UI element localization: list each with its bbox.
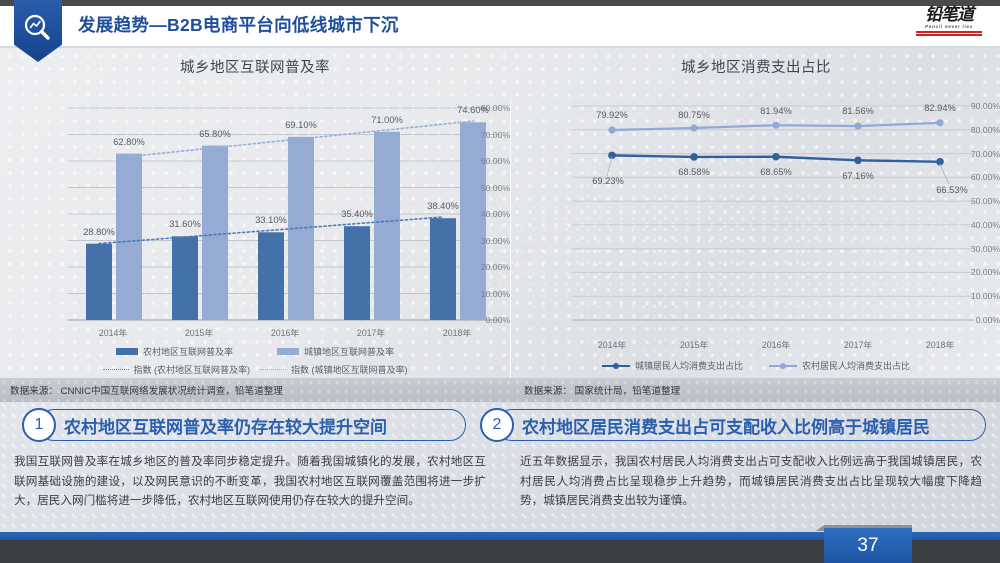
- bar-label-rural-2018: 38.40%: [427, 201, 459, 211]
- legend-item-trend-rural[interactable]: 指数 (农村地区互联网普及率): [103, 363, 251, 376]
- right-ytick-3: 30.00%: [944, 244, 1000, 254]
- right-ytick-0: 0.00%: [944, 315, 1000, 325]
- bar-label-urban-2016: 69.10%: [285, 120, 317, 130]
- right-chart-plot: 0.00% 10.00% 20.00% 30.00% 40.00% 50.00%…: [512, 48, 1000, 348]
- right-chart-svg: [512, 48, 1000, 348]
- legend-label-urban-consumption: 城镇居民人均消费支出占比: [635, 359, 743, 372]
- left-ytick-4: 40.00%: [450, 209, 510, 219]
- bar-rural-2016: [258, 232, 284, 320]
- right-chart-source: 数据来源： 国家统计局，铅笔道整理: [524, 383, 680, 397]
- point-label-urban-2017: 67.16%: [842, 171, 874, 181]
- legend-swatch-urban-consumption: [602, 365, 630, 367]
- left-ytick-5: 50.00%: [450, 183, 510, 193]
- bar-rural-2014: [86, 244, 112, 320]
- bar-label-urban-2015: 65.80%: [199, 129, 231, 139]
- legend-swatch-trend-urban: [260, 369, 286, 370]
- legend-label-trend-urban: 指数 (城镇地区互联网普及率): [291, 363, 408, 376]
- body-paragraph-left: 我国互联网普及率在城乡地区的普及率同步稳定提升。随着我国城镇化的发展，农村地区互…: [14, 452, 486, 511]
- right-ytick-4: 40.00%: [944, 220, 1000, 230]
- right-xtick-2015: 2015年: [664, 338, 724, 351]
- right-chart-legend: 城镇居民人均消费支出占比 农村居民人均消费支出占比: [512, 359, 1000, 372]
- right-ytick-1: 10.00%: [944, 291, 1000, 301]
- panel-divider: [510, 100, 511, 400]
- label-leader-2014: [607, 157, 612, 176]
- legend-label-trend-rural: 指数 (农村地区互联网普及率): [134, 363, 251, 376]
- bar-urban-2015: [202, 146, 228, 320]
- left-xtick-2017: 2017年: [341, 326, 401, 339]
- legend-item-trend-urban[interactable]: 指数 (城镇地区互联网普及率): [260, 363, 408, 376]
- bar-label-urban-2018: 74.60%: [457, 105, 489, 115]
- magnifier-chart-icon: [22, 12, 54, 44]
- legend-item-rural-consumption[interactable]: 农村居民人均消费支出占比: [769, 359, 910, 372]
- point-label-rural-2015: 80.75%: [678, 110, 710, 120]
- legend-label-rural-consumption: 农村居民人均消费支出占比: [802, 359, 910, 372]
- point-label-urban-2018: 66.53%: [936, 185, 968, 195]
- bar-urban-2017: [374, 132, 400, 320]
- left-xtick-2016: 2016年: [255, 326, 315, 339]
- line-rural-consumption-markers: [608, 119, 943, 133]
- right-chart-panel: 城乡地区消费支出占比: [512, 48, 1000, 400]
- left-chart-svg: [0, 48, 510, 348]
- point-label-rural-2017: 81.56%: [842, 106, 874, 116]
- brand-logo: 铅笔道 Pencil never lies: [910, 6, 988, 40]
- right-ytick-6: 60.00%: [944, 172, 1000, 182]
- source-bar: 数据来源： CNNIC中国互联网络发展状况统计调查，铅笔道整理 数据来源： 国家…: [0, 378, 1000, 402]
- bar-label-rural-2015: 31.60%: [169, 219, 201, 229]
- left-ytick-3: 30.00%: [450, 236, 510, 246]
- left-xtick-2015: 2015年: [169, 326, 229, 339]
- callout-1[interactable]: 1 农村地区互联网普及率仍存在较大提升空间: [22, 408, 472, 442]
- point-label-urban-2014: 69.23%: [592, 176, 624, 186]
- left-chart-source: 数据来源： CNNIC中国互联网络发展状况统计调查，铅笔道整理: [10, 383, 283, 397]
- bar-urban-2014: [116, 154, 142, 320]
- right-ytick-7: 70.00%: [944, 149, 1000, 159]
- legend-item-rural-bar[interactable]: 农村地区互联网普及率: [116, 345, 233, 358]
- header-top-strip: [0, 0, 1000, 6]
- right-ytick-2: 20.00%: [944, 267, 1000, 277]
- bar-label-rural-2017: 35.40%: [341, 209, 373, 219]
- left-chart-panel: 城乡地区互联网普及率: [0, 48, 510, 400]
- left-chart-plot: 0.00% 10.00% 20.00% 30.00% 40.00% 50.00%…: [0, 48, 510, 348]
- bar-label-urban-2017: 71.00%: [371, 115, 403, 125]
- right-chart-gridlines: [572, 106, 974, 296]
- bar-rural-2017: [344, 226, 370, 320]
- left-ytick-2: 20.00%: [450, 262, 510, 272]
- bar-rural-2015: [172, 236, 198, 320]
- point-label-urban-2016: 68.65%: [760, 167, 792, 177]
- legend-swatch-trend-rural: [103, 369, 129, 370]
- point-label-urban-2015: 68.58%: [678, 167, 710, 177]
- left-xtick-2014: 2014年: [83, 326, 143, 339]
- right-xtick-2014: 2014年: [582, 338, 642, 351]
- legend-swatch-rural: [116, 348, 138, 355]
- legend-label-rural: 农村地区互联网普及率: [143, 345, 233, 358]
- point-label-rural-2018: 82.94%: [924, 103, 956, 113]
- callout-2-number: 2: [480, 408, 514, 442]
- callout-2-text: 农村地区居民消费支出占可支配收入比例高于城镇居民: [522, 413, 930, 438]
- page-number-tab: 37: [824, 528, 912, 563]
- legend-item-urban-bar[interactable]: 城镇地区互联网普及率: [277, 345, 394, 358]
- right-ytick-5: 50.00%: [944, 196, 1000, 206]
- legend-item-urban-consumption[interactable]: 城镇居民人均消费支出占比: [602, 359, 743, 372]
- callout-2[interactable]: 2 农村地区居民消费支出占可支配收入比例高于城镇居民: [480, 408, 992, 442]
- legend-swatch-rural-consumption: [769, 365, 797, 367]
- right-xtick-2018: 2018年: [910, 338, 970, 351]
- callout-1-text: 农村地区互联网普及率仍存在较大提升空间: [64, 413, 387, 438]
- left-ytick-0: 0.00%: [450, 315, 510, 325]
- left-ytick-1: 10.00%: [450, 289, 510, 299]
- bar-label-rural-2016: 33.10%: [255, 215, 287, 225]
- slide-root: 发展趋势—B2B电商平台向低线城市下沉 铅笔道 Pencil never lie…: [0, 0, 1000, 563]
- header: 发展趋势—B2B电商平台向低线城市下沉 铅笔道 Pencil never lie…: [0, 0, 1000, 46]
- left-ytick-6: 60.00%: [450, 156, 510, 166]
- charts-zone: 城乡地区互联网普及率: [0, 48, 1000, 400]
- body-paragraph-right: 近五年数据显示，我国农村居民人均消费支出占可支配收入比例远高于我国城镇居民，农村…: [520, 452, 982, 511]
- right-ytick-8: 80.00%: [944, 125, 1000, 135]
- logo-english-text: Pencil never lies: [910, 24, 988, 30]
- right-xtick-2016: 2016年: [746, 338, 806, 351]
- logo-underline: [916, 31, 982, 36]
- legend-label-urban: 城镇地区互联网普及率: [304, 345, 394, 358]
- callout-1-number: 1: [22, 408, 56, 442]
- right-xtick-2017: 2017年: [828, 338, 888, 351]
- point-label-rural-2014: 79.92%: [596, 110, 628, 120]
- bar-label-rural-2014: 28.80%: [83, 227, 115, 237]
- bar-label-urban-2014: 62.80%: [113, 137, 145, 147]
- point-label-rural-2016: 81.94%: [760, 106, 792, 116]
- left-ytick-7: 70.00%: [450, 130, 510, 140]
- logo-chinese-text: 铅笔道: [910, 6, 988, 24]
- left-xtick-2018: 2018年: [427, 326, 487, 339]
- page-title: 发展趋势—B2B电商平台向低线城市下沉: [78, 12, 399, 37]
- legend-swatch-urban: [277, 348, 299, 355]
- left-chart-legend: 农村地区互联网普及率 城镇地区互联网普及率 指数 (农村地区互联网普及率) 指数: [0, 345, 510, 376]
